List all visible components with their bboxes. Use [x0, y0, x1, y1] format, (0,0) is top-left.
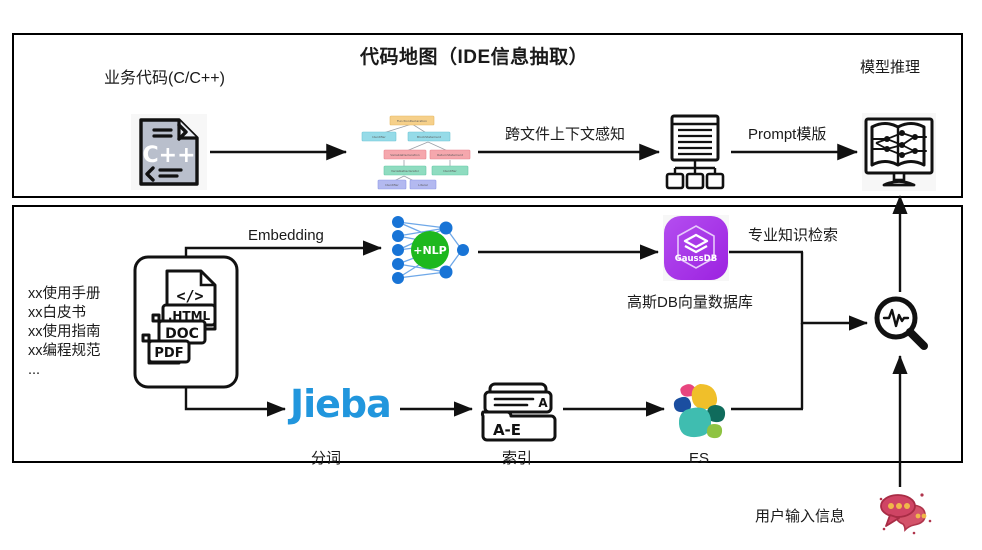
ast-node-label: FunctionDeclaration — [397, 119, 427, 123]
ast-node-label: Identifier — [443, 169, 457, 173]
document-stack-icon: </> .HTML DOC PDF — [133, 255, 239, 389]
edge-label-cross-file: 跨文件上下文感知 — [505, 126, 625, 145]
elasticsearch-caption: ES — [689, 450, 709, 469]
ast-node-label: Literal — [418, 183, 428, 187]
list-item: xx白皮书 — [28, 304, 101, 323]
diagram-canvas: 代码地图（IDE信息抽取） 业务代码(C/C++) 模型推理 跨文件上下文感知 … — [0, 0, 982, 550]
gaussdb-caption: 高斯DB向量数据库 — [627, 294, 753, 313]
elasticsearch-logo-icon — [669, 382, 731, 440]
magnifier-pulse-icon — [872, 294, 930, 352]
index-caption: 索引 — [502, 450, 532, 469]
ast-node-label: Identifier — [385, 183, 399, 187]
index-label-a: A — [538, 396, 548, 410]
neural-network-icon: +NLP — [386, 212, 474, 290]
index-drawer-icon: A A-E — [477, 380, 559, 442]
model-inference-label: 模型推理 — [860, 59, 920, 78]
doc-label-html-tag: </> — [176, 287, 203, 305]
list-item: xx使用手册 — [28, 285, 101, 304]
gaussdb-logo-text: GaussDB — [675, 254, 717, 264]
ast-tree-icon: FunctionDeclaration Identifier BlockStat… — [352, 112, 472, 192]
jieba-caption: 分词 — [311, 450, 341, 469]
list-item: xx编程规范 — [28, 342, 101, 361]
index-label-ae: A-E — [493, 421, 521, 439]
nlp-label: +NLP — [413, 244, 447, 257]
ast-node-label: Identifier — [372, 135, 386, 139]
model-inference-monitor-icon — [862, 113, 936, 191]
ast-node-label: BlockStatement — [417, 135, 442, 139]
gaussdb-logo-icon: GaussDB — [663, 215, 729, 281]
list-item: xx使用指南 — [28, 323, 101, 342]
jieba-logo-text: Jieba — [290, 383, 396, 425]
ast-node-label: ReturnStatement — [437, 153, 464, 157]
ast-node-label: VariableDeclaration — [390, 153, 420, 157]
document-hierarchy-icon — [664, 114, 726, 190]
edge-label-embedding: Embedding — [248, 227, 324, 246]
page-title: 代码地图（IDE信息抽取） — [360, 46, 588, 70]
edge-label-knowledge-search: 专业知识检索 — [748, 227, 838, 246]
list-item: ... — [28, 361, 101, 380]
speech-bubble-icon — [874, 489, 934, 537]
document-type-list: xx使用手册 xx白皮书 xx使用指南 xx编程规范 ... — [28, 285, 101, 380]
user-input-label: 用户输入信息 — [755, 508, 845, 527]
svg-text:C++: C++ — [142, 143, 195, 168]
source-code-label: 业务代码(C/C++) — [104, 69, 225, 89]
cpp-file-icon: C++ — [131, 114, 207, 190]
doc-label-pdf: PDF — [154, 346, 183, 361]
ast-node-label: VariableDeclarator — [391, 169, 420, 173]
edge-label-prompt: Prompt模版 — [748, 126, 826, 145]
jieba-logo-icon: Jieba — [290, 383, 396, 425]
